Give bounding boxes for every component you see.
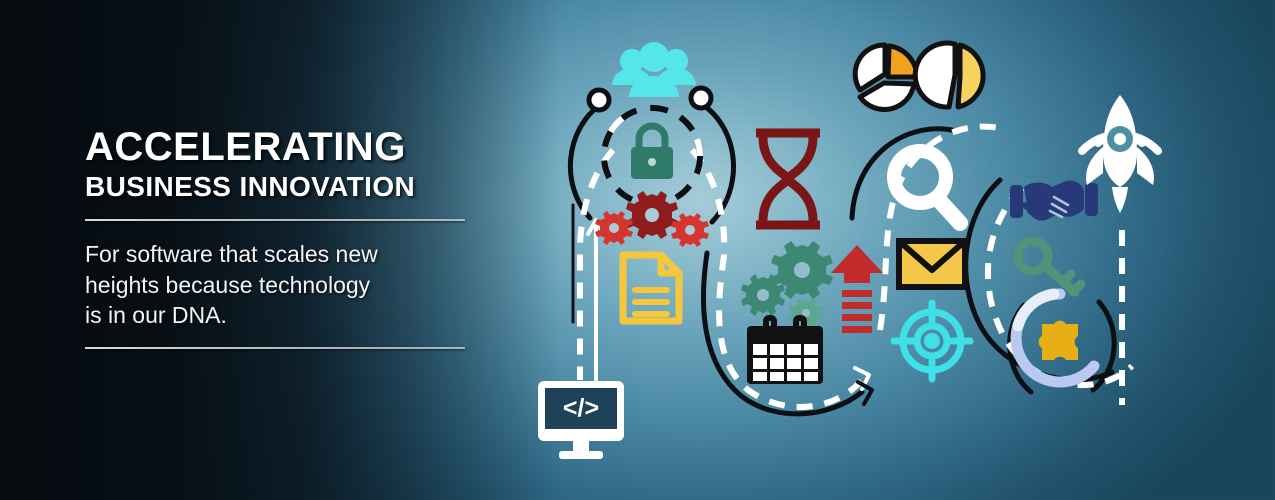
calendar-icon xyxy=(747,318,823,384)
pie-chart-2-icon xyxy=(915,43,983,107)
page-subtitle: BUSINESS INNOVATION xyxy=(85,172,465,203)
puzzle-ring-icon xyxy=(1016,294,1094,382)
divider-top xyxy=(85,219,465,221)
banner-root: ACCELERATING BUSINESS INNOVATION For sof… xyxy=(0,0,1275,500)
lock-icon xyxy=(631,126,673,179)
node-dot-left xyxy=(589,90,609,110)
growth-arrow-icon xyxy=(831,245,883,333)
rocket-fin-left xyxy=(1086,147,1103,185)
gear-red-large xyxy=(626,191,678,239)
people-group-icon xyxy=(612,42,696,97)
divider-bottom xyxy=(85,347,465,349)
rocket-flame xyxy=(1112,187,1128,213)
gears-red-icon xyxy=(595,191,709,247)
handshake-icon xyxy=(1010,181,1098,221)
magnifier-icon xyxy=(894,151,960,223)
puzzle-piece xyxy=(1039,321,1078,360)
body-line-2: heights because technology xyxy=(85,270,465,301)
arrow-white-group xyxy=(588,220,869,389)
body-line-1: For software that scales new xyxy=(85,239,465,270)
envelope-icon xyxy=(899,241,965,287)
rocket-fin-right xyxy=(1137,147,1154,185)
monitor-code-icon: </> xyxy=(538,381,624,459)
svg-text:</>: </> xyxy=(563,394,599,422)
key-icon xyxy=(1018,241,1081,292)
node-dot-right xyxy=(691,88,711,108)
hourglass-icon xyxy=(756,133,820,225)
gears-green-icon xyxy=(741,241,833,328)
body-line-3: is in our DNA. xyxy=(85,300,465,331)
target-icon xyxy=(894,303,970,379)
pie-chart-3-icon xyxy=(855,45,917,109)
gear-red-left xyxy=(595,211,633,245)
page-title: ACCELERATING xyxy=(85,126,465,168)
ring-arc-light xyxy=(1018,294,1054,326)
headline-block: ACCELERATING BUSINESS INNOVATION For sof… xyxy=(85,126,465,349)
document-icon xyxy=(623,255,679,321)
gear-red-right xyxy=(671,213,709,247)
